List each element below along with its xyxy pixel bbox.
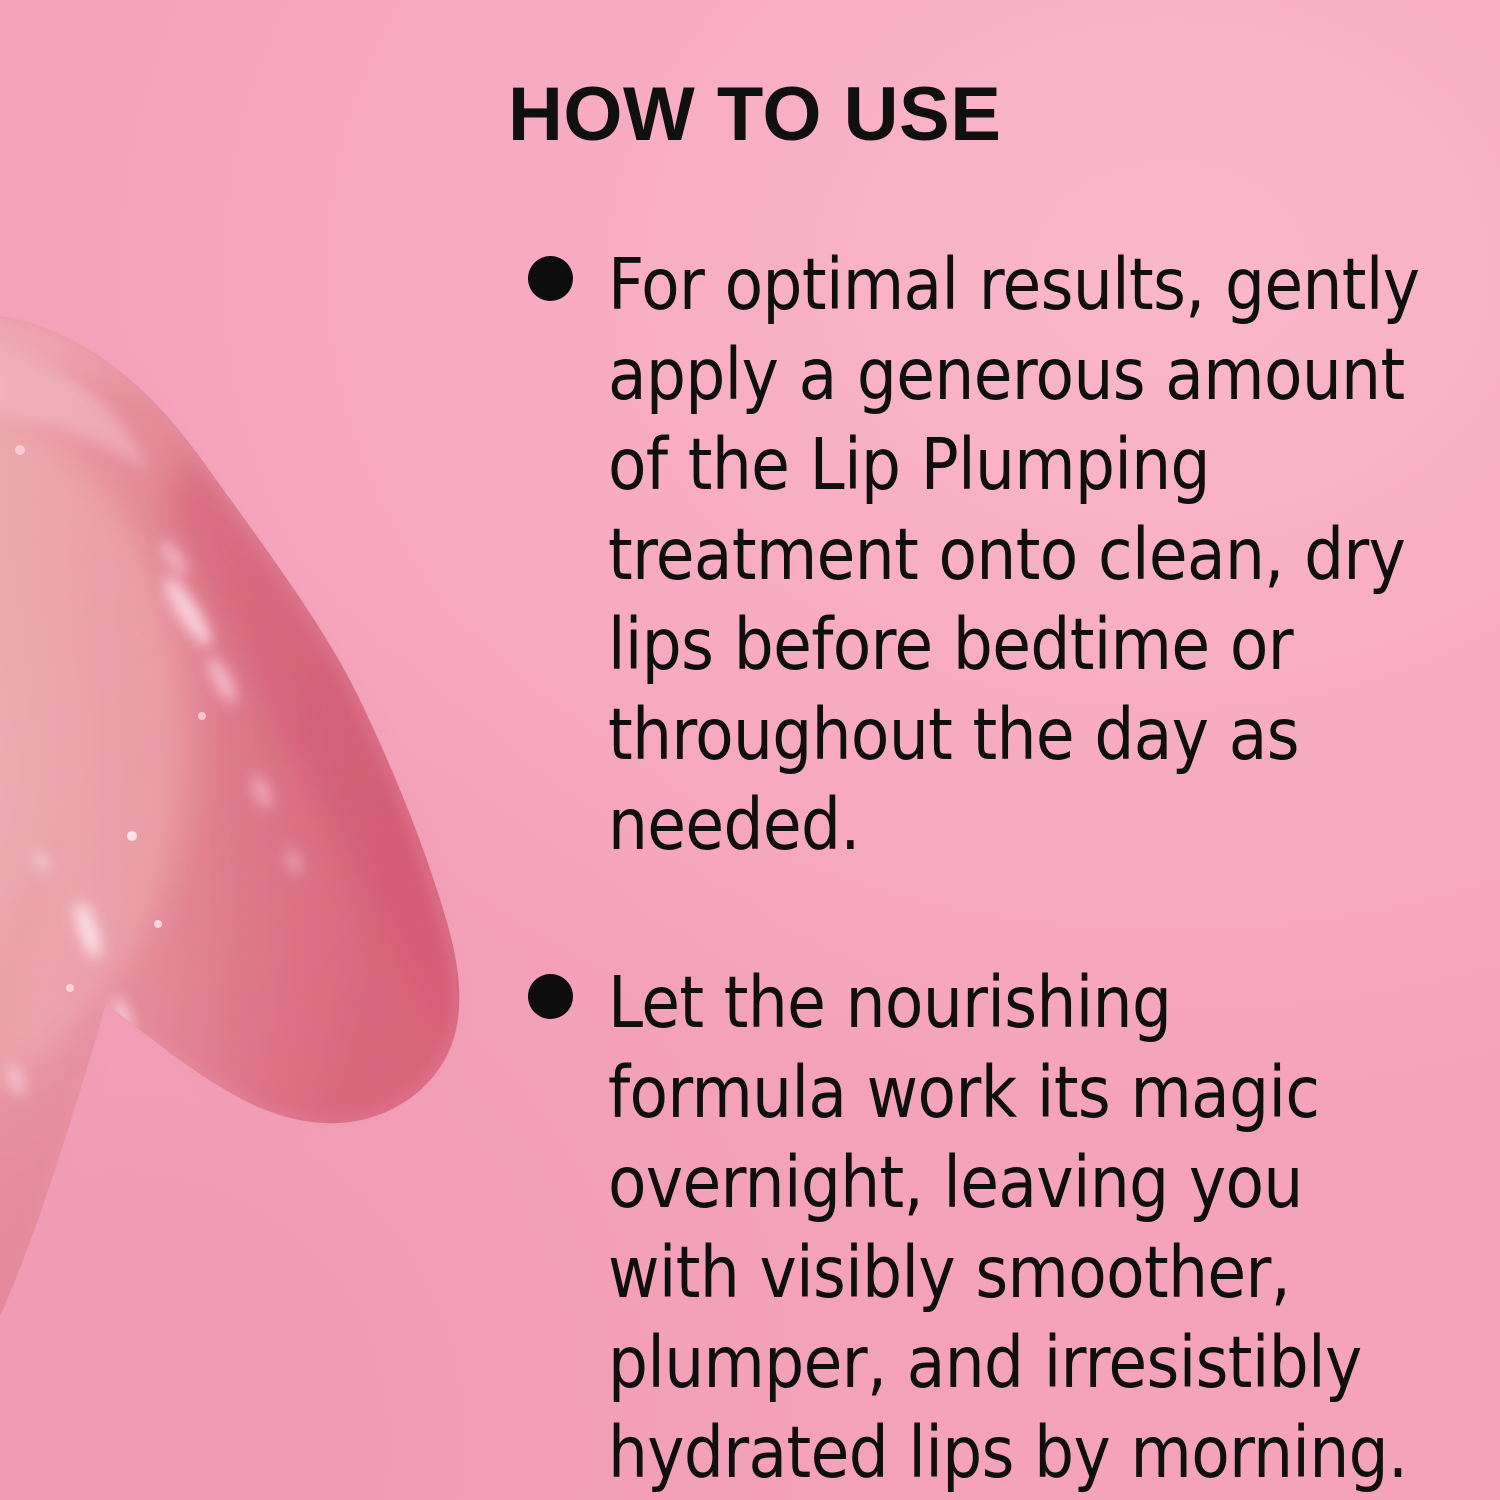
how-to-use-list: For optimal results, gently apply a gene… [508,240,1438,1498]
list-item: For optimal results, gently apply a gene… [508,240,1438,870]
page-title: HOW TO USE [508,76,1438,154]
filled-circle-icon [528,256,573,301]
swatch-shape [0,120,490,1500]
list-item-text: Let the nourishing formula work its magi… [608,958,1426,1498]
list-item: Let the nourishing formula work its magi… [508,958,1438,1498]
list-item-text: For optimal results, gently apply a gene… [608,240,1426,870]
how-to-use-card: HOW TO USE For optimal results, gently a… [0,0,1500,1500]
lip-gloss-swatch-image [0,120,490,1500]
instructions-panel: HOW TO USE For optimal results, gently a… [508,76,1438,1498]
filled-circle-icon [528,974,573,1019]
